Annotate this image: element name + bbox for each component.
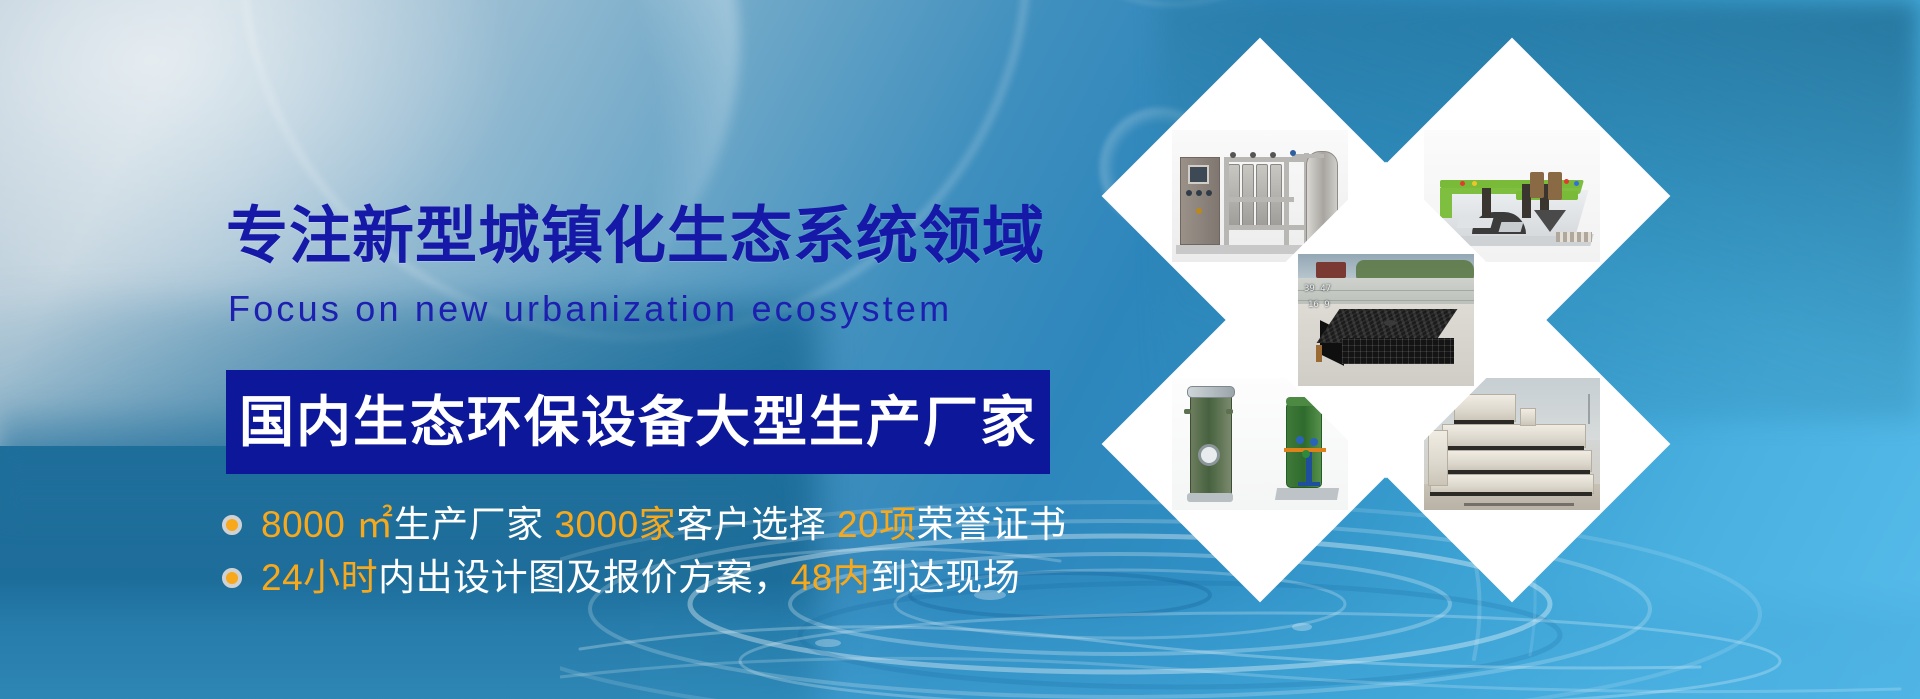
photo-label-line1: 39 47 bbox=[1304, 284, 1331, 294]
bullet-segment: 8000 ㎡ bbox=[261, 504, 394, 545]
photo-black-modular-tank: 39 47 16 9 bbox=[1298, 254, 1474, 386]
highlight-box-text: 国内生态环保设备大型生产厂家 bbox=[239, 395, 1037, 450]
promo-banner: 专注新型城镇化生态系统领域 Focus on new urbanization … bbox=[0, 0, 1920, 699]
bullet-segment: 到达现场 bbox=[870, 557, 1020, 598]
bullet-segment: 生产厂家 bbox=[394, 504, 555, 545]
bullet-segment: 内出设计图及报价方案， bbox=[378, 557, 791, 598]
feature-bullet-list: 8000 ㎡生产厂家 3000家客户选择 20项荣誉证书 24小时内出设计图及报… bbox=[222, 498, 1067, 604]
list-item: 24小时内出设计图及报价方案，48内到达现场 bbox=[222, 551, 1067, 604]
product-diamond-collage: 39 47 16 9 bbox=[1122, 60, 1622, 620]
bullet-segment: 客户选择 bbox=[676, 504, 837, 545]
bullet-dot-icon bbox=[222, 515, 242, 535]
bullet-text: 24小时内出设计图及报价方案，48内到达现场 bbox=[261, 559, 1020, 596]
page-title: 专注新型城镇化生态系统领域 bbox=[226, 206, 1045, 268]
bullet-segment: 3000家 bbox=[554, 504, 676, 545]
bullet-text: 8000 ㎡生产厂家 3000家客户选择 20项荣誉证书 bbox=[261, 506, 1067, 543]
bullet-segment: 20项 bbox=[837, 504, 917, 545]
bullet-segment: 48内 bbox=[791, 557, 871, 598]
bullet-segment: 24小时 bbox=[261, 557, 378, 598]
highlight-box: 国内生态环保设备大型生产厂家 bbox=[226, 370, 1050, 474]
bullet-dot-icon bbox=[222, 568, 242, 588]
photo-label-line2: 16 9 bbox=[1308, 300, 1330, 310]
subtitle-english: Focus on new urbanization ecosystem bbox=[228, 288, 952, 330]
list-item: 8000 ㎡生产厂家 3000家客户选择 20项荣誉证书 bbox=[222, 498, 1067, 551]
bullet-segment: 荣誉证书 bbox=[917, 504, 1067, 545]
bokeh-arc-small bbox=[1020, 0, 1326, 6]
